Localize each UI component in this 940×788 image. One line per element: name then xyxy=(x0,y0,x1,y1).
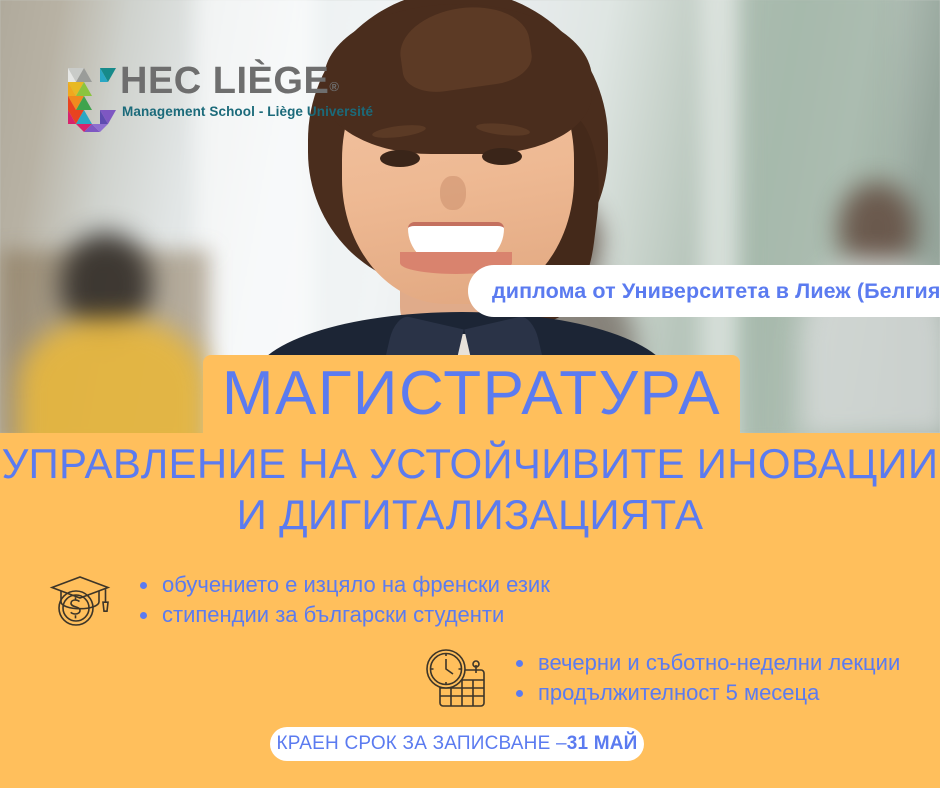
background-person-left-body xyxy=(18,318,208,433)
feature-list-schedule: вечерни и съботно-неделни лекции продълж… xyxy=(488,648,900,708)
diploma-badge-text: диплома от Университета в Лиеж (Белгия) xyxy=(492,279,940,304)
eye-left xyxy=(380,150,420,167)
feature-item: вечерни и съботно-неделни лекции xyxy=(516,648,900,678)
program-subtitle-line-1: УПРАВЛЕНИЕ НА УСТОЙЧИВИТЕ ИНОВАЦИИ xyxy=(0,438,940,489)
feature-item: продължителност 5 месеца xyxy=(516,678,900,708)
clock-calendar-icon xyxy=(424,648,488,710)
logo-wordmark: HEC LIÈGE® xyxy=(120,62,339,100)
feature-group-study: обучението е изцяло на френски език стип… xyxy=(48,570,550,632)
hec-liege-logo: HEC LIÈGE® Management School - Liège Uni… xyxy=(66,60,326,130)
logo-registered-icon: ® xyxy=(329,79,339,94)
feature-item: стипендии за български студенти xyxy=(140,600,550,630)
program-subtitle: УПРАВЛЕНИЕ НА УСТОЙЧИВИТЕ ИНОВАЦИИ И ДИГ… xyxy=(0,438,940,540)
deadline-label: КРАЕН СРОК ЗА ЗАПИСВАНЕ – xyxy=(276,733,566,755)
eye-right xyxy=(482,148,522,165)
deadline-badge: КРАЕН СРОК ЗА ЗАПИСВАНЕ – 31 МАЙ xyxy=(270,727,644,761)
main-title-box: МАГИСТРАТУРА xyxy=(203,355,740,433)
poster-root: HEC LIÈGE® Management School - Liège Uni… xyxy=(0,0,940,788)
program-subtitle-line-2: И ДИГИТАЛИЗАЦИЯТА xyxy=(0,489,940,540)
graduation-cap-dollar-icon xyxy=(48,570,112,632)
feature-item: обучението е изцяло на френски език xyxy=(140,570,550,600)
logo-tagline: Management School - Liège Université xyxy=(122,104,373,119)
main-title-text: МАГИСТРАТУРА xyxy=(222,363,721,425)
deadline-date: 31 МАЙ xyxy=(567,733,638,755)
feature-group-schedule: вечерни и съботно-неделни лекции продълж… xyxy=(424,648,900,710)
diploma-badge: диплома от Университета в Лиеж (Белгия) xyxy=(468,265,940,317)
logo-wordmark-text: HEC LIÈGE xyxy=(120,60,329,102)
nose xyxy=(440,176,466,210)
feature-list-study: обучението е изцяло на френски език стип… xyxy=(112,570,550,630)
hec-liege-logo-mark-icon xyxy=(66,60,118,132)
